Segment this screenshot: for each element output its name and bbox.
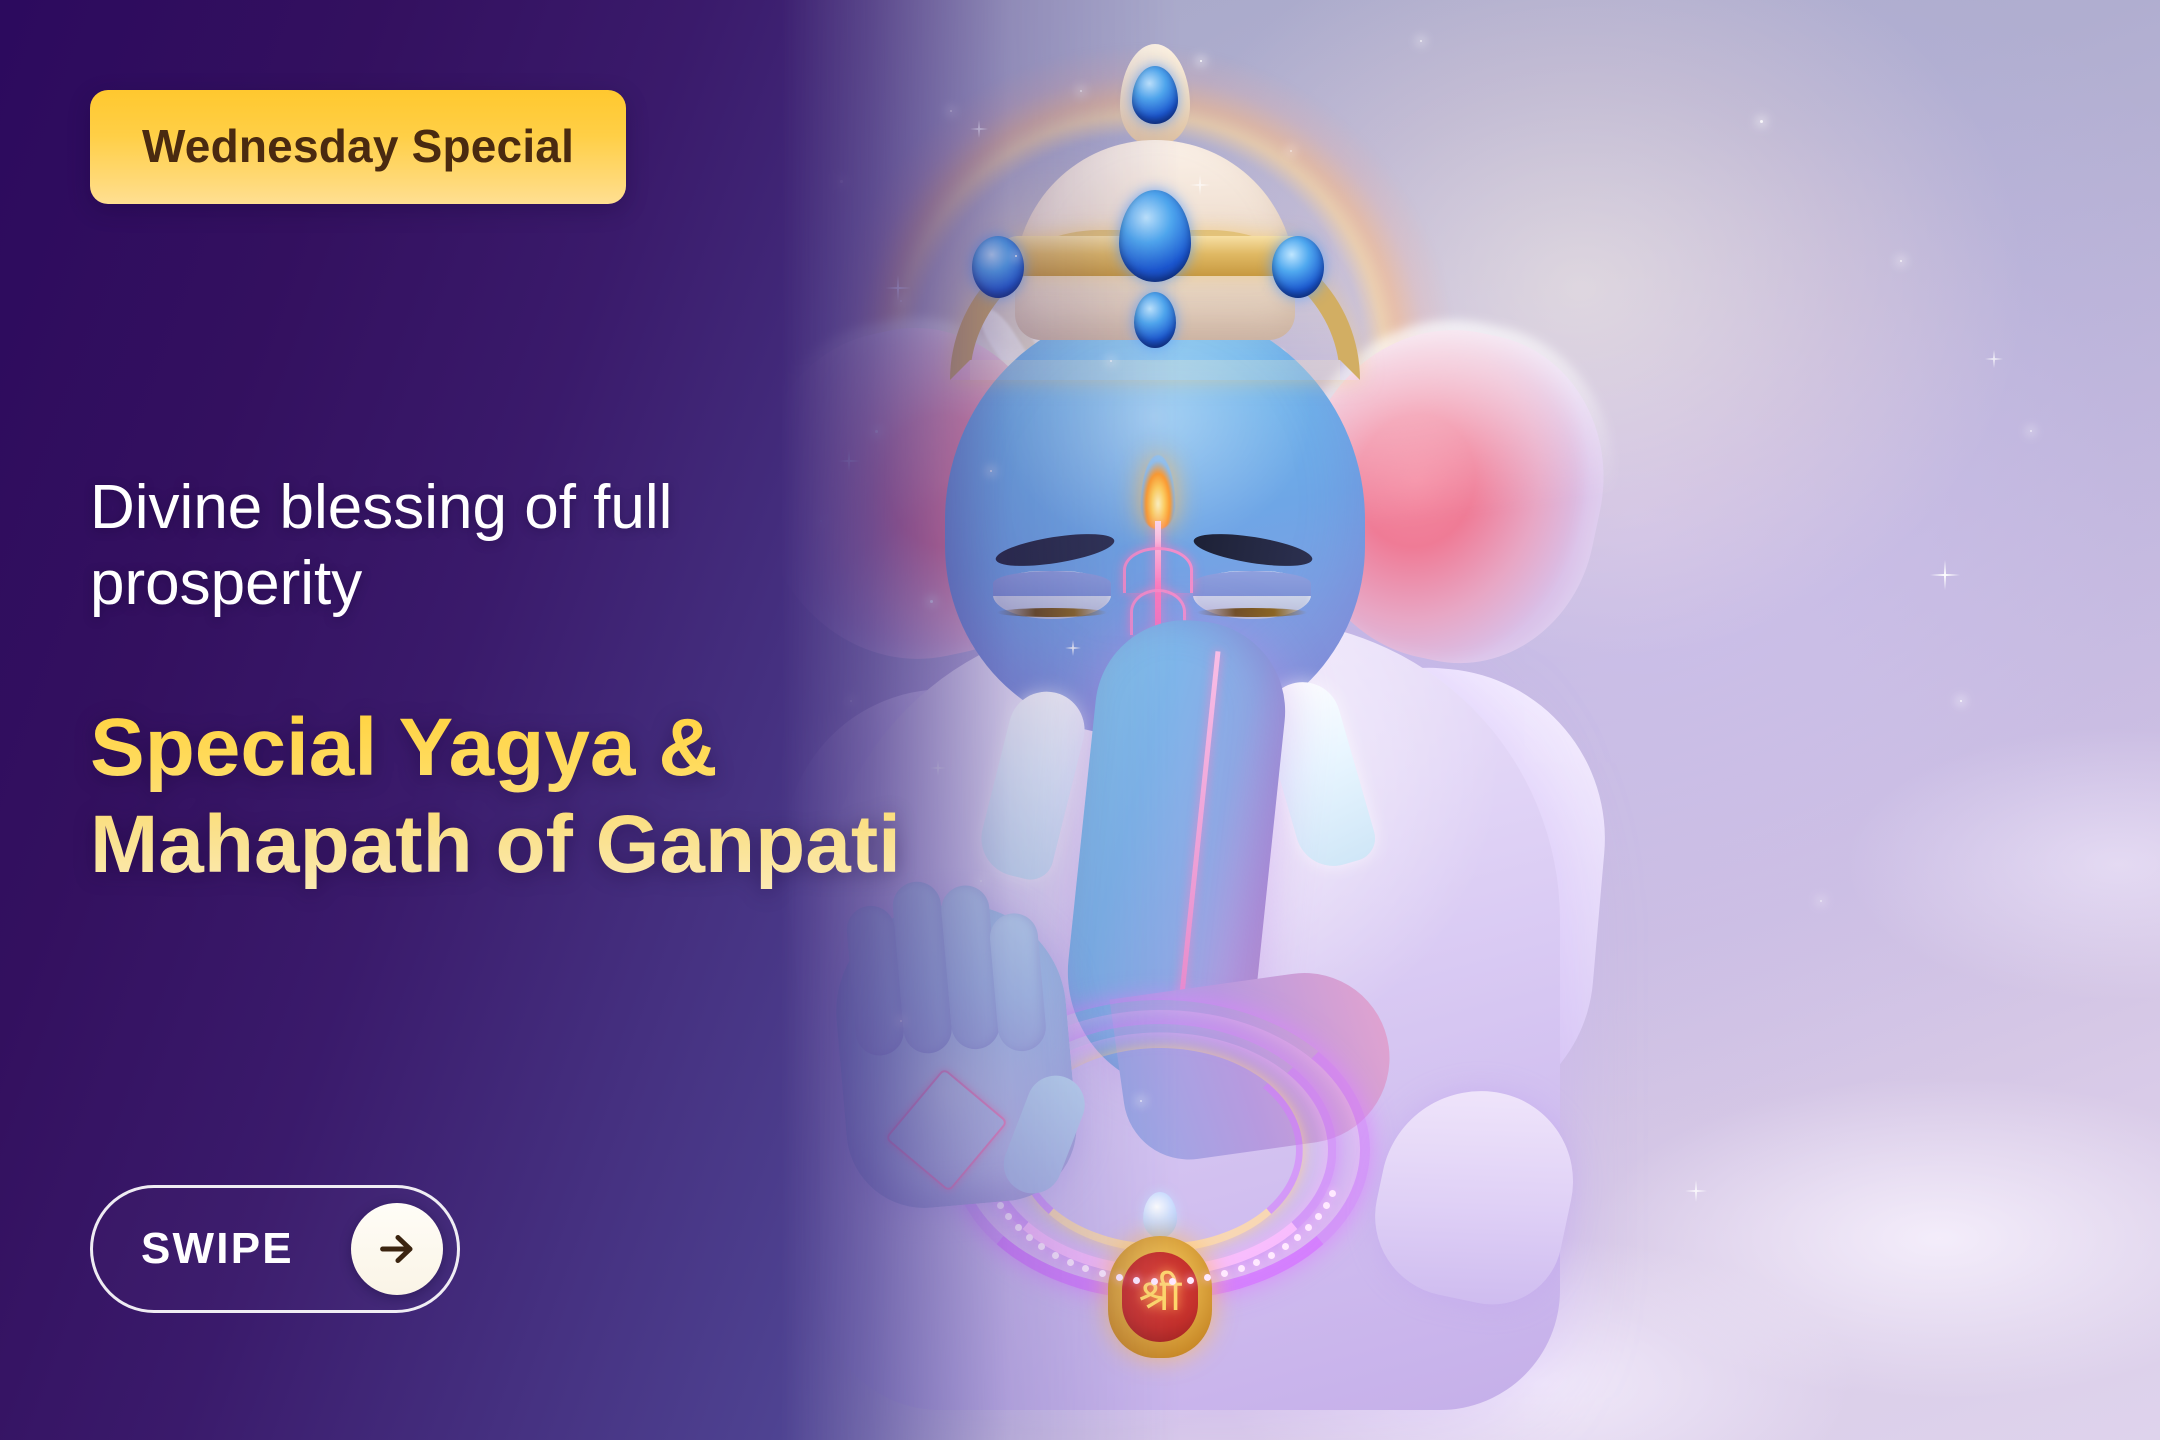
necklace-bead [1323, 1202, 1330, 1209]
necklace-bead [1238, 1265, 1245, 1272]
necklace-bead [1315, 1213, 1322, 1220]
eye-left [993, 571, 1111, 619]
subheadline: Divine blessing of full prosperity [90, 470, 920, 621]
necklace-bead [1099, 1270, 1106, 1277]
necklace-bead [1116, 1274, 1123, 1281]
necklace-bead [1268, 1252, 1275, 1259]
swipe-label: SWIPE [141, 1224, 294, 1274]
swipe-button[interactable]: SWIPE [90, 1185, 460, 1313]
flame-icon [1141, 455, 1175, 529]
eyelash-right [1197, 608, 1307, 617]
tilak-arc-1 [1123, 547, 1193, 593]
gem-side-right [1272, 236, 1324, 298]
badge-label: Wednesday Special [142, 119, 574, 173]
necklace-bead [1169, 1278, 1176, 1285]
headline: Special Yagya & Mahapath of Ganpati [90, 700, 1100, 894]
promo-banner: श्री Wednesday Special Divine blessing o… [0, 0, 2160, 1440]
eyelid-left [993, 571, 1111, 596]
wednesday-special-badge: Wednesday Special [90, 90, 626, 204]
brow-right [1192, 528, 1315, 572]
arrow-right-icon[interactable] [351, 1203, 443, 1295]
necklace-bead [1052, 1252, 1059, 1259]
content-column: Wednesday Special Divine blessing of ful… [0, 0, 1000, 1440]
eyelash-left [997, 608, 1107, 617]
necklace-bead [1067, 1259, 1074, 1266]
eye-right [1193, 571, 1311, 619]
necklace-bead [1151, 1278, 1158, 1285]
necklace-bead [1329, 1190, 1336, 1197]
necklace-bead [1015, 1224, 1022, 1231]
brow-left [994, 528, 1117, 572]
gem-drop [1134, 292, 1176, 348]
necklace-bead [1187, 1277, 1194, 1284]
necklace-bead [1026, 1234, 1033, 1241]
necklace-gem [1143, 1192, 1177, 1238]
eyelid-right [1193, 571, 1311, 596]
necklace-bead [1133, 1277, 1140, 1284]
pendant-medallion: श्री [1108, 1236, 1212, 1358]
